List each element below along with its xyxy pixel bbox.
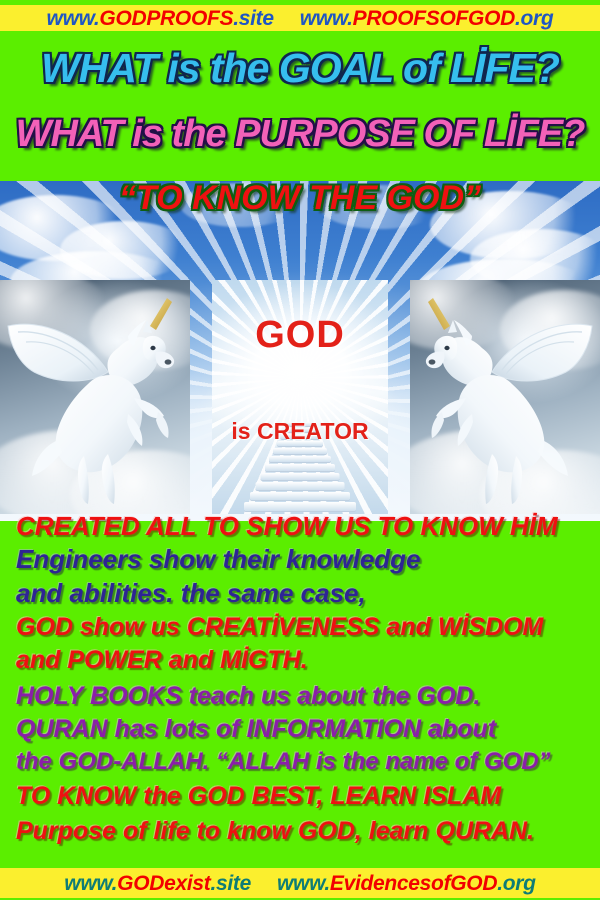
top-url-banner: www.GODPROOFS.site www.PROOFSOFGOD.org (0, 5, 600, 31)
top-link-2-tld: .org (515, 7, 553, 30)
top-link-2-prefix: www. (300, 7, 353, 30)
body-line-3: and abilities. the same case, (0, 580, 600, 606)
top-link-1[interactable]: www.GODPROOFS.site (47, 8, 274, 29)
body-line-7: QURAN has lots of INFORMATION about (0, 717, 600, 742)
body-line-8: the GOD-ALLAH. “ALLAH is the name of GOD… (0, 750, 600, 774)
bottom-link-2[interactable]: www.EvidencesofGOD.org (277, 873, 536, 894)
left-pegasus-panel (0, 280, 190, 514)
top-link-2[interactable]: www.PROOFSOFGOD.org (300, 8, 554, 29)
body-line-9: TO KNOW the GOD BEST, LEARN ISLAM (0, 784, 600, 809)
bottom-link-2-name: EvidencesofGOD (330, 872, 497, 895)
center-title-god: GOD (212, 316, 388, 354)
stair-step (265, 464, 335, 472)
headline-goal-of-life: WHAT is the GOAL of LİFE? (0, 48, 600, 89)
body-line-6: HOLY BOOKS teach us about the GOD. (0, 684, 600, 709)
bottom-link-2-tld: .org (497, 872, 535, 895)
center-stairway-panel: GOD is CREATOR (212, 280, 388, 514)
stair-step (273, 448, 327, 455)
center-subtitle-creator: is CREATOR (212, 420, 388, 443)
body-line-10: Purpose of life to know GOD, learn QURAN… (0, 819, 600, 844)
stair-step (261, 473, 340, 481)
bottom-link-2-prefix: www. (277, 872, 330, 895)
stair-step (250, 492, 350, 501)
pegasus-unicorn-icon-mirrored (410, 280, 600, 514)
bottom-link-1-prefix: www. (64, 872, 117, 895)
body-line-5: and POWER and MİGTH. (0, 648, 600, 673)
artwork-band: GOD is CREATOR (0, 181, 600, 521)
body-line-4: GOD show us CREATİVENESS and WİSDOM (0, 615, 600, 640)
stair-step (256, 482, 345, 491)
headline-purpose-of-life: WHAT is the PURPOSE OF LİFE? (0, 115, 600, 153)
right-pegasus-panel (410, 280, 600, 514)
body-line-1: CREATED ALL TO SHOW US TO KNOW HİM (0, 513, 600, 539)
bottom-link-1-name: GODexist (117, 872, 210, 895)
bottom-link-1-tld: .site (210, 872, 251, 895)
top-link-1-tld: .site (233, 7, 274, 30)
bottom-url-banner: www.GODexist.site www.EvidencesofGOD.org (0, 868, 600, 898)
quote-to-know-the-god: “TO KNOW THE GOD” (0, 181, 600, 215)
bottom-link-1[interactable]: www.GODexist.site (64, 873, 251, 894)
pegasus-unicorn-icon (0, 280, 190, 514)
body-line-2: Engineers show their knowledge (0, 546, 600, 572)
top-link-1-prefix: www. (47, 7, 100, 30)
top-link-2-name: PROOFSOFGOD (353, 7, 515, 30)
stair-step (269, 456, 331, 463)
poster-canvas: www.GODPROOFS.site www.PROOFSOFGOD.org W… (0, 0, 600, 900)
top-link-1-name: GODPROOFS (99, 7, 233, 30)
